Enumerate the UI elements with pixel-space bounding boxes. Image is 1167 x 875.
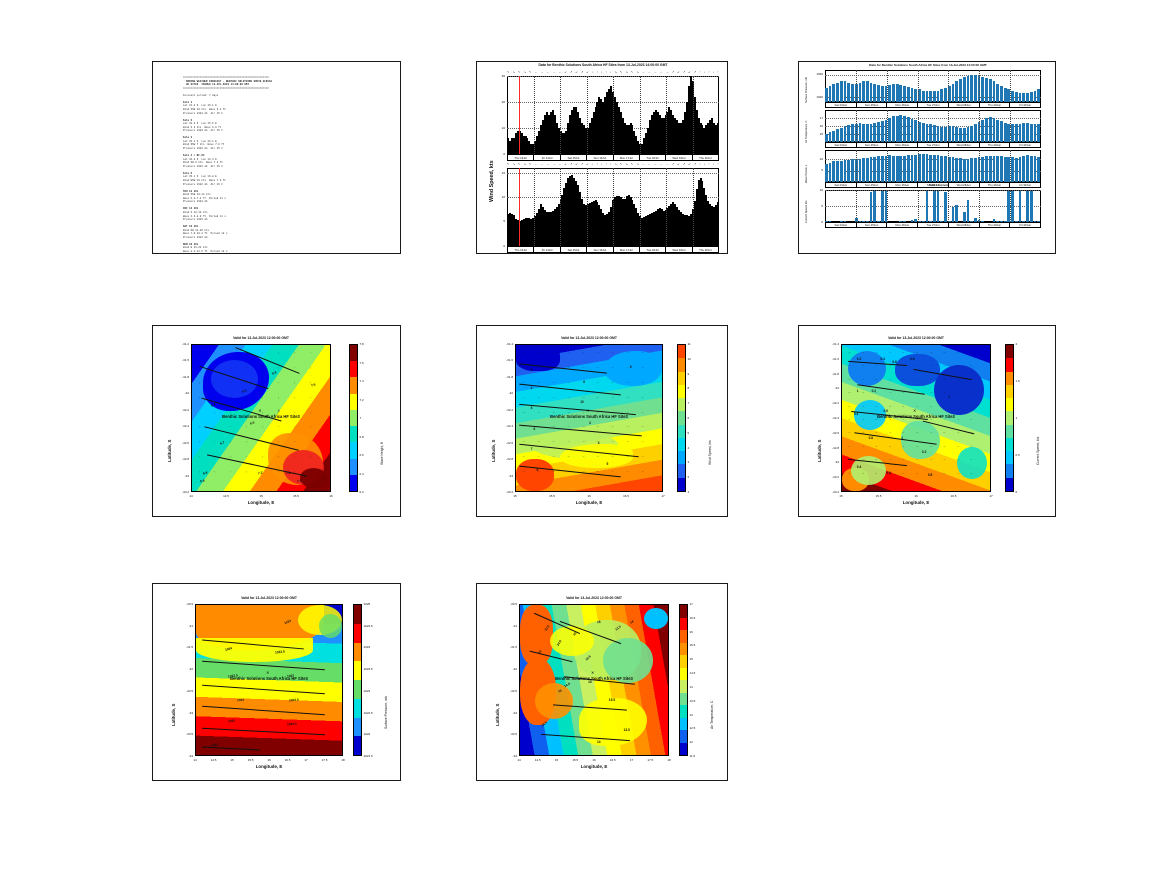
colorbar[interactable] — [349, 344, 358, 492]
map-axes[interactable]: →→→→→→→→→→→→→→→→→→→→→→→→→→→→→→→→→→→→→→→→… — [515, 344, 663, 492]
contour-label: 0.4 — [880, 357, 884, 361]
bar — [937, 91, 940, 102]
x-tick-label: 14.5 — [218, 494, 234, 498]
contour-label: 8 — [536, 468, 538, 472]
day-strip-1[interactable]: Sat 24JunSun 25JunMon 26JunTue 27JunWed … — [825, 142, 1041, 148]
day-label: Fri 14Jul — [534, 247, 560, 252]
bar — [907, 87, 910, 102]
colorbar-tick-label: 4 — [688, 446, 690, 450]
day-label: Thu 13Jul — [508, 155, 534, 160]
colorbar[interactable] — [679, 604, 688, 756]
chart-title: Data for Benthic Solutions South Africa … — [799, 63, 1056, 67]
day-label: Thu 29Jun — [980, 103, 1011, 107]
direction-arrow-icon: ← — [546, 71, 549, 74]
bar — [832, 84, 835, 102]
bar — [959, 79, 962, 102]
day-label: Mon 26Jun — [887, 103, 918, 107]
bar — [981, 120, 984, 142]
y-tick-label: 5 — [813, 204, 823, 208]
contour-label: 1023.5 — [289, 698, 299, 703]
site-overlay-label: Benthic Solutions South Africa HF Site3 — [192, 414, 330, 419]
colorbar-segment — [1006, 425, 1013, 438]
direction-arrow-icon: ↓ — [713, 163, 715, 166]
x-tick-label: 15 — [833, 494, 849, 498]
bar — [1011, 124, 1014, 142]
map-axes[interactable]: 13.51414.51515.51613.51414.51515.51613.5… — [519, 604, 669, 756]
current-speed-panel-ylabel: Current Speed, kts — [805, 201, 808, 223]
bar — [903, 86, 906, 102]
direction-arrow-icon: ↙ — [564, 163, 567, 166]
site-marker-icon: ✕ — [913, 408, 916, 413]
colorbar-tick-label: 0 — [1016, 490, 1018, 494]
colorbar-segment — [354, 699, 361, 718]
bar — [1037, 157, 1040, 182]
wind-vector-arrow-icon: → — [566, 395, 569, 398]
y-tick-label: 5 — [813, 168, 823, 172]
sheet-pressure-temp-timeseries[interactable]: Data for Benthic Solutions South Africa … — [798, 61, 1056, 254]
day-gridline — [666, 76, 667, 154]
y-tick-label: -33.5 — [501, 732, 517, 736]
colorbar-segment — [354, 718, 361, 737]
bar — [899, 115, 902, 142]
direction-arrow-icon: ↖ — [631, 163, 634, 166]
contour-label: 3 — [531, 368, 533, 372]
bar — [933, 191, 936, 222]
bar — [844, 81, 847, 102]
map-ylabel: Latitude, S — [167, 440, 172, 462]
bar — [996, 156, 999, 182]
bar — [1022, 156, 1025, 182]
sheet-wave-height-map[interactable]: Valid for 13-Jul-2023 12:00:00 GMT→→→→→→… — [152, 325, 401, 517]
day-gridline — [948, 110, 949, 142]
contour-label: 0.2 — [857, 357, 861, 361]
day-gridline — [979, 110, 980, 142]
site-overlay-label: Benthic Solutions South Africa HF Site3 — [842, 414, 990, 419]
bar — [832, 161, 835, 182]
direction-arrow-icon: → — [540, 163, 543, 166]
bar — [829, 86, 832, 102]
sheet-text-report[interactable]: ========================================… — [152, 61, 401, 254]
colorbar[interactable] — [353, 604, 362, 756]
y-tick-label: -31.2 — [173, 342, 189, 346]
y-tick-label: -33.4 — [823, 490, 839, 494]
day-label: Wed 28Jun — [949, 103, 980, 107]
map-title: Valid for 13-Jul-2023 12:00:00 GMT — [175, 596, 363, 600]
direction-arrow-icon: ↖ — [529, 163, 532, 166]
colorbar-segment — [680, 618, 687, 631]
colorbar-segment — [350, 394, 357, 410]
bar — [926, 154, 929, 182]
colorbar-segment — [680, 605, 687, 618]
colorbar-tick-label: 11 — [688, 342, 691, 346]
y-tick-label: 17 — [813, 116, 823, 120]
colorbar-segment — [680, 668, 687, 681]
day-label: Wed 28Jun — [949, 223, 980, 227]
colorbar-segment — [1006, 358, 1013, 371]
bar — [840, 81, 843, 102]
y-tick-label: -32 — [497, 391, 513, 395]
bar — [1000, 156, 1003, 182]
wind-vector-arrow-icon: → — [521, 365, 525, 369]
bar — [937, 155, 940, 182]
day-label: Wed 28Jun — [949, 183, 980, 187]
bar — [974, 75, 977, 102]
sheet-surface-pressure-map[interactable]: Valid for 13-Jul-2023 12:00:00 GMT102410… — [152, 583, 401, 781]
bar — [933, 125, 936, 142]
direction-arrow-icon: ↘ — [636, 71, 639, 74]
bar — [825, 88, 828, 102]
colorbar-segment — [678, 358, 685, 371]
sheet-air-temperature-map[interactable]: Valid for 13-Jul-2023 12:00:00 GMT13.514… — [476, 583, 728, 781]
wind-vector-arrow-icon: → — [929, 350, 933, 354]
colorbar-tick-label: 7.4 — [360, 379, 364, 383]
colorbar-segment — [354, 736, 361, 755]
y-tick-label: -31.6 — [823, 357, 839, 361]
bar — [825, 134, 828, 142]
bar — [985, 118, 988, 142]
colorbar-segment — [680, 680, 687, 693]
colorbar-segment — [354, 680, 361, 699]
bar — [1019, 191, 1022, 222]
colorbar-tick-label: 1022 — [364, 732, 371, 736]
bar — [899, 156, 902, 182]
day-strip-3[interactable]: Sat 24JunSun 25JunMon 26JunTue 27JunWed … — [825, 222, 1041, 228]
direction-arrow-icon: ↖ — [620, 71, 623, 74]
y-tick-label: -32.5 — [173, 441, 189, 445]
bar — [963, 212, 966, 222]
contour-label: 6 — [630, 365, 632, 369]
colorbar[interactable] — [677, 344, 686, 492]
direction-arrow-icon: ↖ — [518, 163, 521, 166]
colorbar-tick-label: 5 — [688, 431, 690, 435]
contour-label: 15 — [588, 680, 592, 684]
colorbar-title: Air Temperature, C — [710, 700, 714, 728]
contour-label: 0.2 — [922, 450, 926, 454]
wind-vector-arrow-icon: → — [581, 470, 584, 473]
bar — [836, 83, 839, 102]
bar — [926, 124, 929, 142]
x-tick-label: 16 — [323, 494, 339, 498]
bar — [911, 119, 914, 142]
bar — [825, 164, 828, 182]
day-gridline — [948, 190, 949, 222]
colorbar-tick-label: 1 — [1016, 416, 1018, 420]
direction-arrow-icon: ↑ — [605, 163, 607, 166]
bar — [922, 154, 925, 182]
map-axes[interactable]: 10241023.510231022.5102210241023.5102310… — [195, 604, 343, 756]
bar — [836, 161, 839, 182]
bar — [985, 78, 988, 102]
bar — [1030, 92, 1033, 102]
direction-arrow-icon: → — [552, 71, 555, 74]
day-gridline — [979, 190, 980, 222]
direction-arrow-icon: ↙ — [575, 163, 578, 166]
y-tick-label: -31.8 — [173, 375, 189, 379]
wind-vector-arrow-icon: → — [536, 365, 540, 369]
y-gridline — [825, 118, 1041, 119]
day-gridline — [856, 190, 857, 222]
colorbar-segment — [350, 345, 357, 361]
y-tick-label: -33 — [173, 474, 189, 478]
day-label: Sat 24Jun — [826, 223, 857, 227]
wave-direction-arrow-row: ↖↘↖↘↖←→←→←↙↗↙↗↙↓↑↓↑↓↘↖↘↖↘→←→←→↗↙↗↙↗↑↓↑↓↑ — [507, 162, 719, 167]
map-xlabel: Longitude, E — [191, 500, 331, 505]
day-label: Tue 27Jun — [918, 143, 949, 147]
wind-vector-arrow-icon: → — [888, 404, 892, 408]
colorbar-segment — [1006, 372, 1013, 385]
day-gridline — [587, 168, 588, 246]
bar — [866, 81, 869, 102]
colorbar-segment — [350, 459, 357, 475]
y-tick-label: -32 — [173, 391, 189, 395]
bar — [1022, 123, 1025, 142]
colorbar-title: Wind Speed, kts — [708, 441, 712, 466]
bar — [955, 205, 958, 222]
y-tick-label: 0 — [495, 152, 505, 156]
colorbar-segment — [1006, 345, 1013, 358]
colorbar-tick-label: 10 — [688, 357, 691, 361]
day-label: Sat 15Jul — [561, 247, 587, 252]
colorbar-tick-label: 1 — [688, 490, 690, 494]
wind-vector-arrow-icon: → — [929, 404, 933, 408]
x-tick-label: 15.5 — [871, 494, 887, 498]
day-gridline — [918, 110, 919, 142]
contour-label: 1023 — [228, 719, 235, 723]
bar — [877, 156, 880, 182]
bar — [959, 158, 962, 182]
direction-arrow-icon: ↘ — [625, 71, 628, 74]
direction-arrow-icon: ↖ — [529, 71, 532, 74]
colorbar-tick-label: 1025 — [364, 602, 371, 606]
direction-arrow-icon: ↗ — [694, 71, 697, 74]
map-xlabel: Longitude, E — [519, 764, 669, 769]
direction-arrow-icon: ↘ — [524, 163, 527, 166]
bar — [873, 157, 876, 182]
bar — [963, 77, 966, 102]
colorbar-title: Surface Pressure, mb — [384, 696, 388, 729]
direction-arrow-icon: ↑ — [596, 71, 598, 74]
colorbar-segment — [350, 426, 357, 442]
colorbar-tick-label: 1024 — [364, 645, 371, 649]
colorbar-segment — [678, 385, 685, 398]
bar — [844, 126, 847, 142]
colorbar[interactable] — [1005, 344, 1014, 492]
bar — [881, 86, 884, 102]
sheet-current-speed-map[interactable]: Valid for 13-Jul-2023 12:00:00 GMT→→→→→→… — [798, 325, 1056, 517]
colorbar-segment — [1006, 398, 1013, 411]
bar — [1000, 86, 1003, 102]
wind-vector-arrow-icon: → — [861, 471, 865, 475]
bar — [989, 156, 992, 182]
colorbar-segment — [678, 345, 685, 358]
wind-vector-arrow-icon: → — [536, 395, 540, 399]
y-tick-label: 5 — [495, 219, 505, 223]
colorbar-tick-label: 14.5 — [690, 671, 696, 675]
direction-arrow-icon: → — [666, 71, 669, 74]
colorbar-segment — [354, 624, 361, 643]
day-label: Sat 15Jul — [561, 155, 587, 160]
y-tick-label: 15 — [813, 132, 823, 136]
y-tick-label: -31.5 — [173, 358, 189, 362]
bar — [963, 159, 966, 182]
direction-arrow-icon: ↗ — [672, 163, 675, 166]
direction-arrow-icon: ↓ — [592, 163, 594, 166]
x-tick-label: 16 — [261, 758, 277, 762]
day-label: Tue 27Jun — [918, 223, 949, 227]
wind-vector-arrow-icon: → — [566, 380, 570, 384]
map-axes[interactable]: →→→→→→→→→→→→→→→→→→→→→→→→→→→→→→→→→→→→→→→→… — [841, 344, 991, 492]
bar — [881, 191, 884, 222]
colorbar-tick-label: 1.5 — [1016, 379, 1020, 383]
colorbar-tick-label: 14 — [690, 685, 693, 689]
map-axes[interactable]: →→→→→→→→→→→→→→→→→→→→→→→→→→→→→→→→→→→→→→→→… — [191, 344, 331, 492]
x-tick-label: 15.5 — [567, 758, 583, 762]
bar — [870, 83, 873, 102]
bar — [970, 75, 973, 102]
y-tick-label: -32.4 — [497, 424, 513, 428]
y-tick-label: -33 — [823, 460, 839, 464]
bar — [870, 157, 873, 182]
direction-arrow-icon: ↖ — [507, 163, 510, 166]
direction-arrow-icon: ↓ — [601, 71, 603, 74]
y-tick-label: -30.5 — [177, 602, 193, 606]
bar — [1004, 123, 1007, 142]
day-gridline — [640, 76, 641, 154]
sheet-wind-wave-timeseries[interactable]: Data for Benthic Solutions South Africa … — [476, 61, 728, 254]
contour-label: 1 — [857, 389, 859, 393]
contour-label: 0.2 — [872, 389, 876, 393]
direction-arrow-icon: ↖ — [507, 71, 510, 74]
day-gridline — [613, 168, 614, 246]
bar — [929, 91, 932, 102]
direction-arrow-icon: ↑ — [708, 163, 710, 166]
y-tick-label: -32.8 — [823, 446, 839, 450]
x-tick-label: 14 — [183, 494, 199, 498]
colorbar-segment — [680, 655, 687, 668]
day-label: Mon 26Jun — [887, 223, 918, 227]
colorbar-segment — [1006, 438, 1013, 451]
day-label: Thu 29Jun — [980, 143, 1011, 147]
y-tick-label: -32.8 — [497, 457, 513, 461]
y-tick-label: -33.2 — [173, 490, 189, 494]
bar — [907, 117, 910, 142]
bar — [959, 128, 962, 142]
y-tick-label: -32.6 — [823, 431, 839, 435]
colorbar-tick-label: 8 — [688, 386, 690, 390]
colorbar-tick-label: 7 — [360, 416, 362, 420]
wind-vector-arrow-icon: → — [536, 350, 540, 354]
y-tick-label: -31 — [177, 624, 193, 628]
day-label: Fri 30Jun — [1010, 223, 1040, 227]
bar — [1011, 91, 1014, 102]
bar — [955, 81, 958, 102]
current-time-marker — [519, 168, 520, 246]
bar — [940, 89, 943, 102]
y-tick-label: -32.5 — [177, 689, 193, 693]
colorbar-title: Wave Height, ft — [380, 442, 384, 465]
bar — [940, 127, 943, 142]
bar — [888, 118, 891, 142]
contour-label: 0.6 — [892, 360, 896, 364]
site-marker-icon: ✕ — [258, 408, 261, 413]
x-tick-label: 16 — [908, 494, 924, 498]
colorbar-tick-label: 7.6 — [360, 361, 364, 365]
bar — [888, 85, 891, 102]
y-tick-label: -33.2 — [823, 475, 839, 479]
x-tick-label: 15 — [253, 494, 269, 498]
day-gridline — [1010, 110, 1011, 142]
colorbar-segment — [680, 630, 687, 643]
bar — [1011, 157, 1014, 182]
bar — [870, 124, 873, 142]
site-overlay-label: Benthic Solutions South Africa HF Site3 — [196, 676, 342, 681]
direction-arrow-icon: ↘ — [636, 163, 639, 166]
direction-arrow-icon: ↙ — [575, 71, 578, 74]
direction-arrow-icon: ↓ — [592, 71, 594, 74]
wind-vector-arrow-icon: → — [551, 366, 554, 369]
y-tick-label: -32.4 — [173, 424, 189, 428]
contour-label: 4 — [531, 386, 533, 390]
bar — [1026, 155, 1029, 182]
bar — [970, 158, 973, 182]
sheet-wind-speed-map[interactable]: Valid for 13-Jul-2023 12:00:00 GMT→→→→→→… — [476, 325, 728, 517]
day-strip-upper[interactable]: Thu 13JulFri 14JulSat 15JulSun 16JulMon … — [507, 154, 719, 161]
direction-arrow-icon: ← — [558, 71, 561, 74]
day-label: Fri 30Jun — [1010, 183, 1040, 187]
day-gridline — [979, 150, 980, 182]
colorbar-segment — [350, 475, 357, 491]
colorbar-tick-label: 17 — [690, 602, 693, 606]
contour-label: 7.2 — [285, 470, 290, 475]
day-strip-0[interactable]: Sat 24JunSun 25JunMon 26JunTue 27JunWed … — [825, 102, 1041, 108]
direction-arrow-icon: → — [642, 163, 645, 166]
contour-label: 3 — [589, 421, 591, 425]
contour-label: 1024 — [237, 698, 244, 702]
day-label: Thu 29Jun — [980, 183, 1011, 187]
day-strip-lower[interactable]: Thu 13JulFri 14JulSat 15JulSun 16JulMon … — [507, 246, 719, 253]
colorbar-tick-label: 2 — [688, 475, 690, 479]
bar — [717, 123, 719, 154]
day-gridline — [1010, 150, 1011, 182]
bar — [892, 116, 895, 142]
day-gridline — [856, 70, 857, 102]
bar — [847, 160, 850, 182]
colorbar-segment — [678, 478, 685, 491]
day-label: Sun 25Jun — [857, 223, 888, 227]
y-tick-label: -33.2 — [497, 490, 513, 494]
x-tick-label: 15.5 — [243, 758, 259, 762]
direction-arrow-icon: ↗ — [570, 163, 573, 166]
y-tick-label: -32.2 — [173, 408, 189, 412]
bar — [1030, 124, 1033, 142]
direction-arrow-icon: ↗ — [570, 71, 573, 74]
wave-period-panel-ylabel: Wave Period, s — [805, 165, 808, 183]
direction-arrow-icon: ↑ — [717, 163, 719, 166]
bar — [967, 76, 970, 102]
direction-arrow-icon: ↑ — [717, 71, 719, 74]
contour-label: 1 — [949, 395, 951, 399]
day-label: Sat 24Jun — [826, 143, 857, 147]
bar — [933, 155, 936, 182]
day-gridline — [918, 150, 919, 182]
colorbar-segment — [678, 398, 685, 411]
direction-arrow-icon: ↓ — [601, 163, 603, 166]
bar — [933, 91, 936, 102]
direction-arrow-icon: ← — [535, 71, 538, 74]
contour-label: 10 — [580, 400, 584, 404]
x-tick-label: 14 — [187, 758, 203, 762]
direction-arrow-icon: ↙ — [564, 71, 567, 74]
